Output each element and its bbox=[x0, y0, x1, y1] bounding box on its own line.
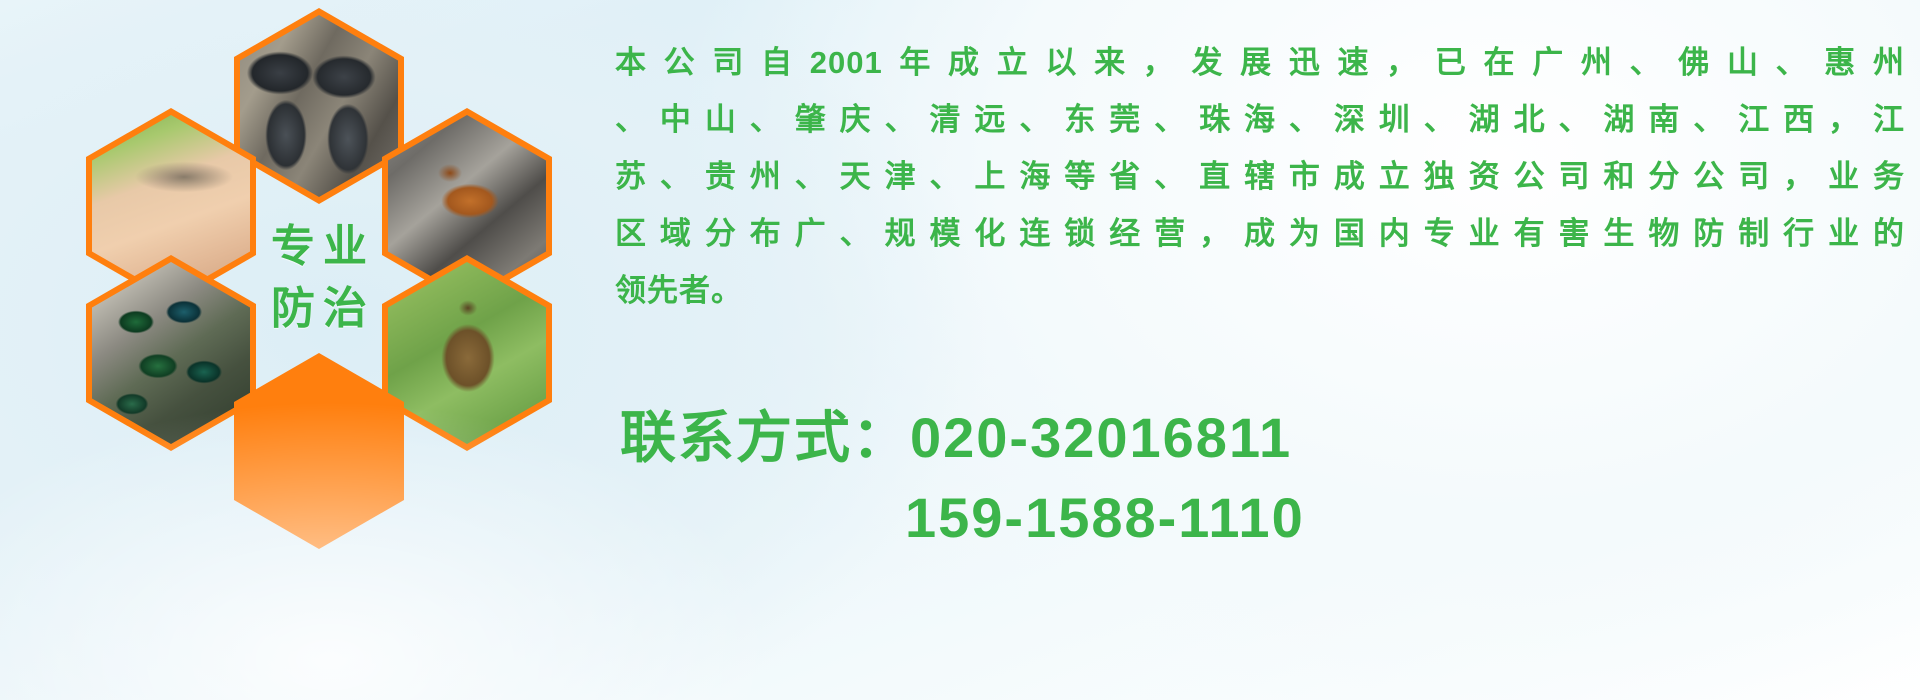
fly-photo bbox=[92, 262, 250, 444]
stinkbug-photo bbox=[388, 262, 546, 444]
rat-image-art bbox=[240, 15, 398, 197]
company-intro-paragraph: 本公司自2001年成立以来，发展迅速，已在广州、佛山、惠州 、中山、肇庆、清远、… bbox=[615, 34, 1905, 319]
intro-line-2: 、中山、肇庆、清远、东莞、珠海、深圳、湖北、湖南、江西，江 bbox=[615, 91, 1905, 148]
hex-tile-fly-photo bbox=[86, 255, 256, 451]
hex-tile-rat-photo bbox=[234, 8, 404, 204]
contact-phone-mobile[interactable]: 159-1588-1110 bbox=[620, 478, 1910, 558]
logo-word-bottom: 防治 bbox=[263, 278, 375, 340]
hex-tile-stinkbug-photo bbox=[382, 255, 552, 451]
contact-phone-landline[interactable]: 联系方式：020-32016811 bbox=[620, 398, 1910, 478]
stinkbug-image-art bbox=[388, 262, 546, 444]
honeycomb-collage: 专业 防治 bbox=[86, 8, 606, 568]
ant-photo bbox=[240, 360, 398, 542]
collage-center-label: 专业 防治 bbox=[234, 180, 404, 376]
promo-banner: 专业 防治 本公司自2001年成立以来，发展迅速，已在广州、佛山、惠州 、中山、… bbox=[0, 0, 1920, 700]
intro-line-3: 苏、贵州、天津、上海等省、直辖市成立独资公司和分公司，业务 bbox=[615, 148, 1905, 205]
logo-word-top: 专业 bbox=[263, 216, 375, 278]
hex-tile-ant-photo bbox=[234, 353, 404, 549]
contact-block: 联系方式：020-32016811 159-1588-1110 bbox=[620, 398, 1910, 558]
intro-line-1: 本公司自2001年成立以来，发展迅速，已在广州、佛山、惠州 bbox=[615, 34, 1905, 91]
intro-line-4: 区域分布广、规模化连锁经营，成为国内专业有害生物防制行业的 bbox=[615, 205, 1905, 262]
fly-image-art bbox=[92, 262, 250, 444]
rat-photo bbox=[240, 15, 398, 197]
intro-line-5: 领先者。 bbox=[615, 262, 1905, 319]
ant-image-art bbox=[240, 360, 398, 542]
